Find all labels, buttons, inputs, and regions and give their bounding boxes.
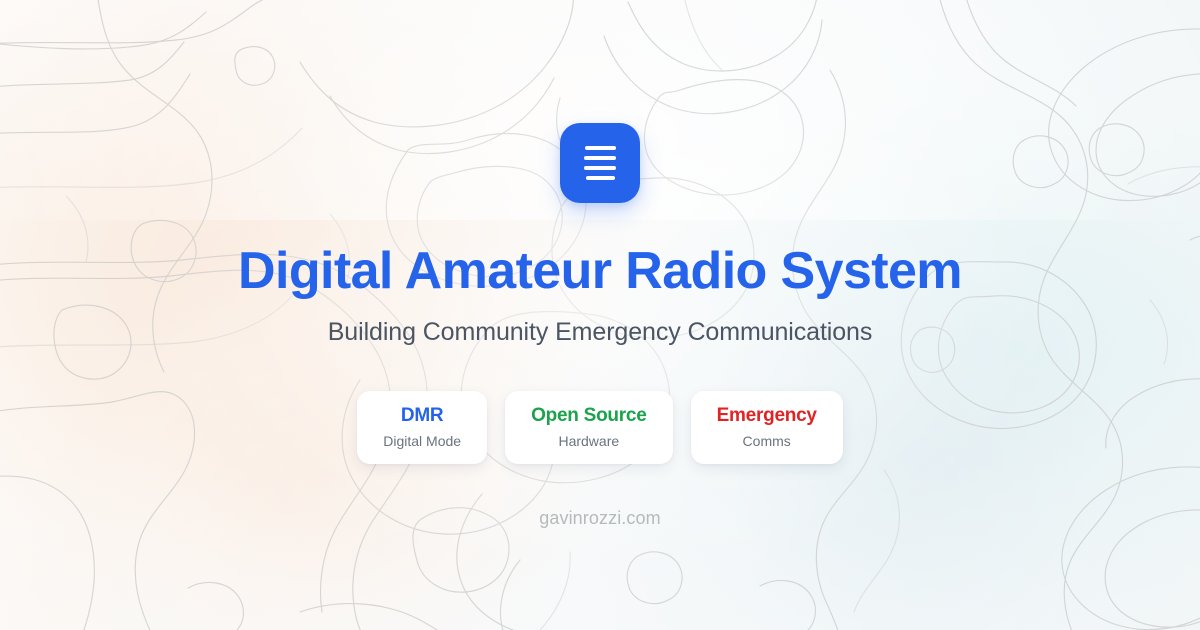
page-title: Digital Amateur Radio System	[238, 243, 962, 299]
page-subtitle: Building Community Emergency Communicati…	[328, 318, 873, 347]
og-card: Digital Amateur Radio System Building Co…	[0, 0, 1200, 630]
badge-card-open-source: Open Source Hardware	[505, 391, 673, 464]
badge-card-dmr: DMR Digital Mode	[357, 391, 487, 464]
site-url-footer: gavinrozzi.com	[539, 508, 660, 529]
badge-title: DMR	[401, 405, 444, 427]
feature-badge-row: DMR Digital Mode Open Source Hardware Em…	[357, 391, 843, 464]
signal-bar-1	[585, 146, 616, 150]
badge-title: Emergency	[717, 405, 817, 427]
card-content: Digital Amateur Radio System Building Co…	[0, 0, 1200, 630]
signal-bar-2	[584, 156, 616, 160]
badge-title: Open Source	[531, 405, 647, 427]
badge-card-emergency: Emergency Comms	[691, 391, 843, 464]
signal-bars-icon	[560, 123, 640, 203]
signal-bar-3	[584, 166, 616, 170]
badge-subtitle: Digital Mode	[383, 433, 461, 450]
badge-subtitle: Hardware	[558, 433, 619, 450]
signal-bar-4	[586, 176, 615, 180]
badge-subtitle: Comms	[743, 433, 791, 450]
